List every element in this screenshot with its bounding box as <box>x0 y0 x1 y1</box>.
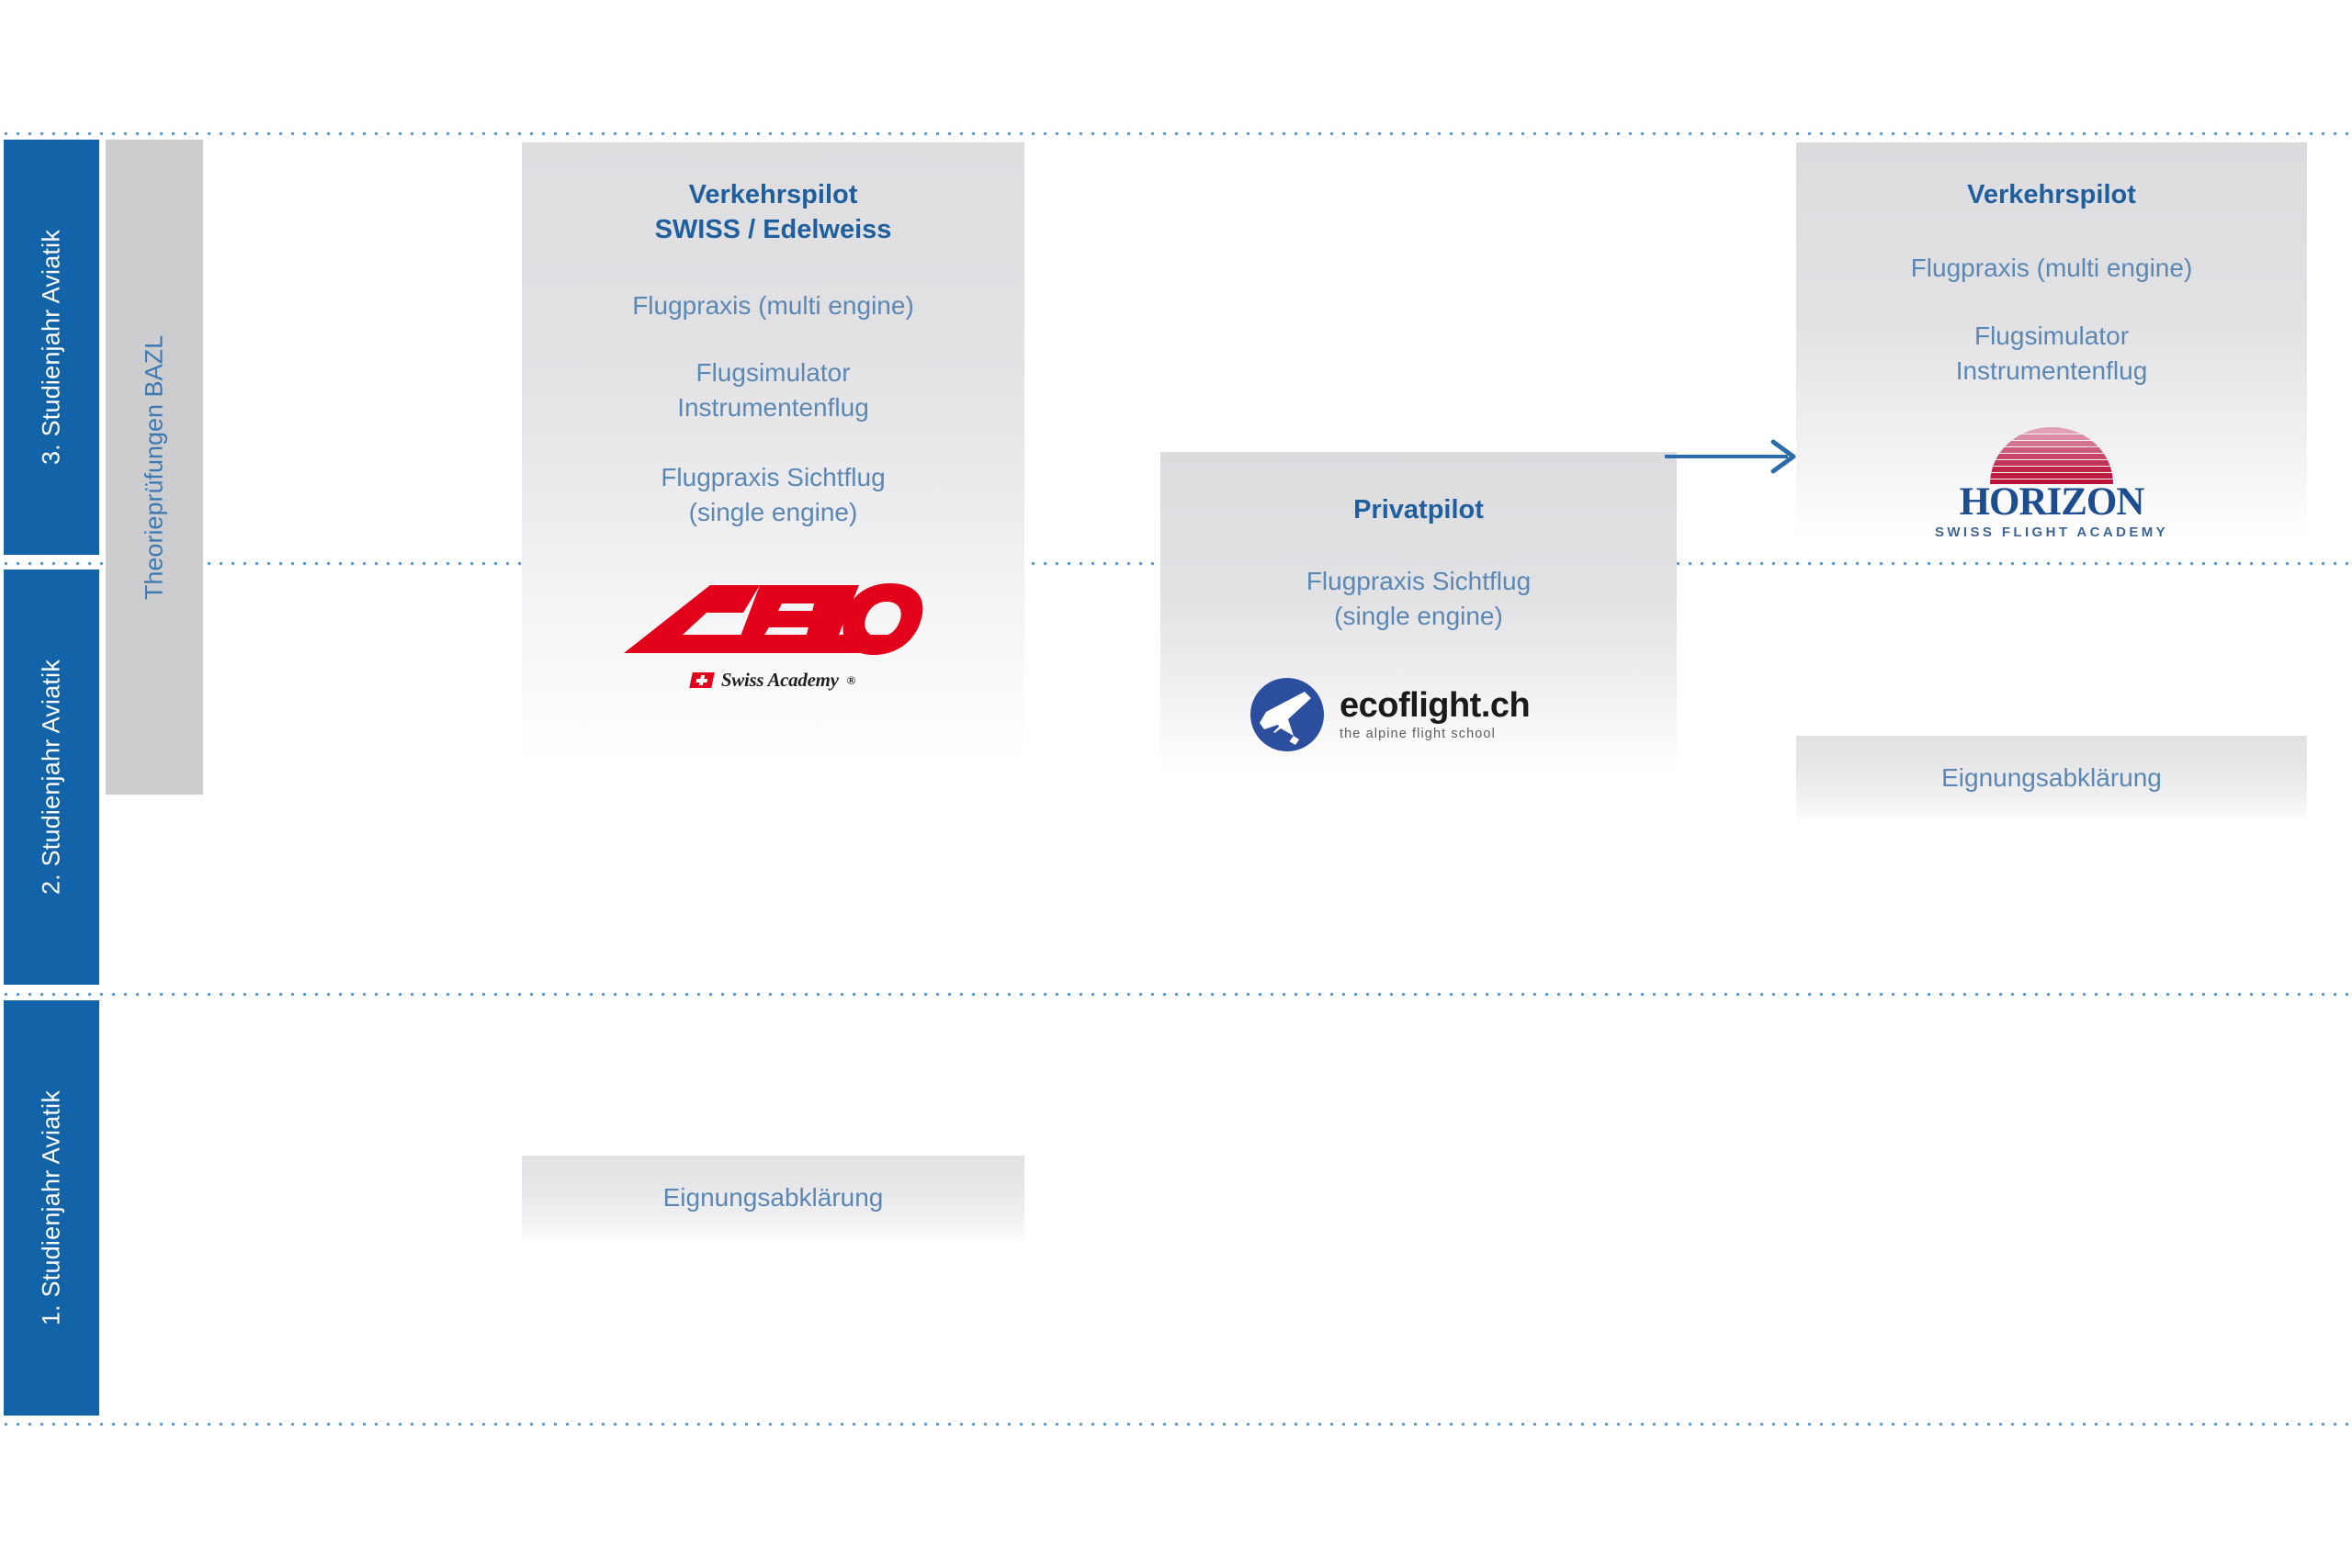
panel-horizon-item-1: Flugsimulator Instrumentenflug <box>1796 319 2307 389</box>
theory-bar-bazl: Theorieprüfungen BAZL <box>106 140 203 795</box>
ecoflight-text-block: ecoflight.ch the alpine flight school <box>1340 688 1530 741</box>
ecoflight-mark-icon <box>1248 675 1327 754</box>
horizon-wordmark: HORIZON <box>1796 482 2307 522</box>
theory-bar-label: Theorieprüfungen BAZL <box>141 334 169 599</box>
year-bar-3-label: 3. Studienjahr Aviatik <box>38 230 66 465</box>
panel-aelo-title-line1: Verkehrspilot <box>689 180 858 209</box>
swiss-flag-icon <box>689 672 715 688</box>
ecoflight-tagline: the alpine flight school <box>1340 728 1530 741</box>
panel-eignung-left-label: Eignungsabklärung <box>522 1183 1024 1213</box>
diagram-canvas: 3. Studienjahr Aviatik 2. Studienjahr Av… <box>0 0 2352 1568</box>
panel-aelo-title: Verkehrspilot SWISS / Edelweiss <box>522 177 1024 248</box>
aelo-tagline-row: Swiss Academy ® <box>522 669 1024 692</box>
panel-aelo-item-2: Flugpraxis Sichtflug (single engine) <box>522 460 1024 530</box>
arrow-right-icon <box>1665 432 1803 481</box>
year-bar-2-label: 2. Studienjahr Aviatik <box>38 660 66 895</box>
panel-eignung-right[interactable]: Eignungsabklärung <box>1796 736 2307 825</box>
year-bar-1: 1. Studienjahr Aviatik <box>4 1000 99 1416</box>
year-bar-3: 3. Studienjahr Aviatik <box>4 140 99 555</box>
horizon-logo: HORIZON SWISS FLIGHT ACADEMY <box>1796 427 2307 540</box>
panel-aelo-item-1: Flugsimulator Instrumentenflug <box>522 355 1024 425</box>
panel-eignung-left[interactable]: Eignungsabklärung <box>522 1156 1024 1245</box>
horizon-sun-icon <box>1983 427 2120 484</box>
panel-horizon-item-0: Flugpraxis (multi engine) <box>1796 251 2307 286</box>
privatpilot-to-horizon-arrow <box>1665 432 1803 486</box>
ecoflight-wordmark: ecoflight.ch <box>1340 688 1530 723</box>
horizon-tagline: SWISS FLIGHT ACADEMY <box>1796 525 2307 540</box>
year-bar-1-label: 1. Studienjahr Aviatik <box>38 1090 66 1325</box>
panel-eignung-right-label: Eignungsabklärung <box>1796 763 2307 793</box>
aelo-logo: Swiss Academy ® <box>522 581 1024 692</box>
year-bar-2: 2. Studienjahr Aviatik <box>4 570 99 985</box>
aelo-registered-mark: ® <box>847 673 855 688</box>
panel-aelo-item-0: Flugpraxis (multi engine) <box>522 288 1024 323</box>
dotted-separator-y2-y1 <box>0 992 2352 997</box>
panel-privatpilot-item-0: Flugpraxis Sichtflug (single engine) <box>1160 564 1677 634</box>
panel-privatpilot-title: Privatpilot <box>1160 492 1677 527</box>
panel-aelo-title-line2: SWISS / Edelweiss <box>655 215 892 244</box>
panel-horizon-title: Verkehrspilot <box>1796 177 2307 212</box>
aelo-wordmark-icon <box>622 581 925 659</box>
aelo-tagline: Swiss Academy <box>721 669 839 692</box>
dotted-separator-bottom <box>0 1422 2352 1427</box>
ecoflight-logo: ecoflight.ch the alpine flight school <box>1248 675 1530 754</box>
dotted-separator-top <box>0 131 2352 136</box>
